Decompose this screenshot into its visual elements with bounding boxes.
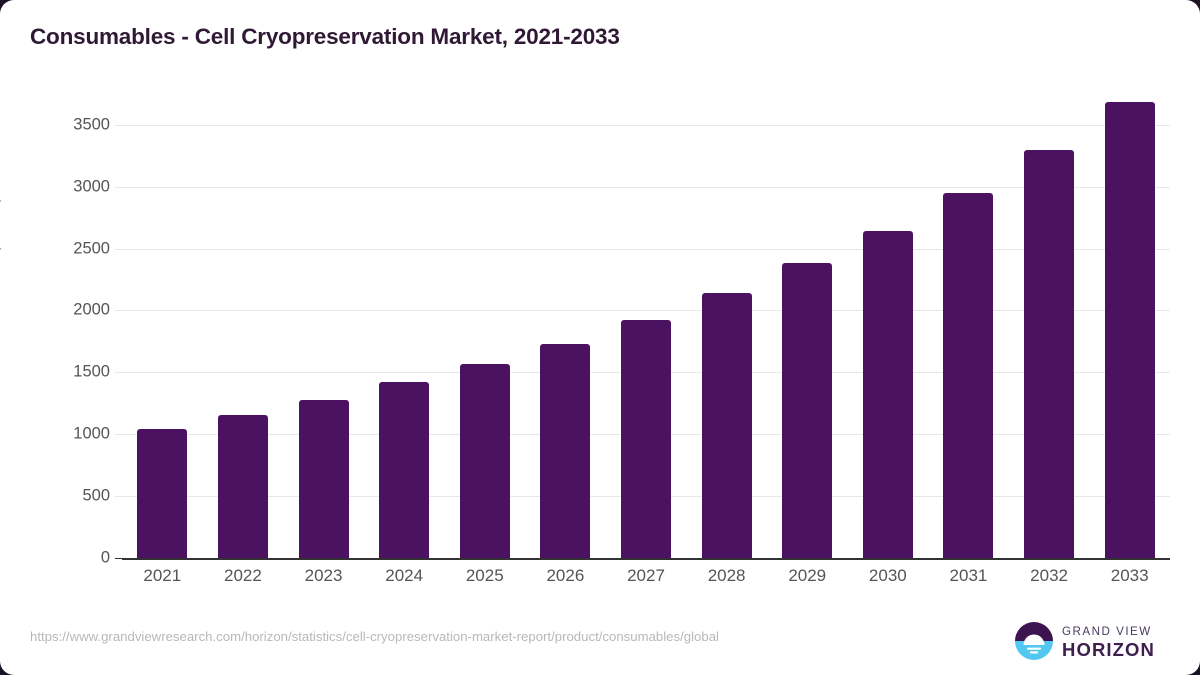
x-tick-label: 2024 bbox=[364, 566, 445, 586]
x-tick-label: 2032 bbox=[1009, 566, 1090, 586]
horizon-logo-icon bbox=[1014, 621, 1054, 661]
bar[interactable] bbox=[943, 193, 993, 558]
bar[interactable] bbox=[621, 320, 671, 558]
y-tick-label: 2000 bbox=[50, 301, 110, 320]
x-tick-label: 2021 bbox=[122, 566, 203, 586]
chart-card: Consumables - Cell Cryopreservation Mark… bbox=[0, 0, 1200, 675]
x-tick-label: 2026 bbox=[525, 566, 606, 586]
chart-title: Consumables - Cell Cryopreservation Mark… bbox=[30, 24, 620, 50]
y-tick-mark bbox=[115, 249, 122, 250]
y-tick-mark bbox=[115, 434, 122, 435]
plot-area bbox=[122, 100, 1170, 558]
y-tick-mark bbox=[115, 310, 122, 311]
bar[interactable] bbox=[863, 231, 913, 558]
bar[interactable] bbox=[137, 429, 187, 558]
x-tick-label: 2029 bbox=[767, 566, 848, 586]
x-tick-label: 2023 bbox=[283, 566, 364, 586]
bar[interactable] bbox=[702, 293, 752, 558]
x-tick-label: 2025 bbox=[444, 566, 525, 586]
brand-logo: GRAND VIEW HORIZON bbox=[1014, 619, 1174, 663]
x-tick-label: 2031 bbox=[928, 566, 1009, 586]
y-tick-mark bbox=[115, 496, 122, 497]
bar[interactable] bbox=[782, 263, 832, 558]
y-tick-label: 2500 bbox=[50, 239, 110, 258]
y-tick-label: 3000 bbox=[50, 177, 110, 196]
bar[interactable] bbox=[1024, 150, 1074, 558]
y-tick-mark bbox=[115, 558, 122, 559]
y-tick-label: 0 bbox=[50, 549, 110, 568]
bar[interactable] bbox=[460, 364, 510, 558]
bar[interactable] bbox=[299, 400, 349, 558]
y-tick-label: 1000 bbox=[50, 425, 110, 444]
source-url[interactable]: https://www.grandviewresearch.com/horizo… bbox=[30, 629, 719, 644]
bar[interactable] bbox=[379, 382, 429, 558]
x-tick-label: 2027 bbox=[606, 566, 687, 586]
y-tick-label: 3500 bbox=[50, 115, 110, 134]
x-tick-label: 2022 bbox=[203, 566, 284, 586]
brand-line-1: GRAND VIEW bbox=[1062, 624, 1174, 639]
x-tick-label: 2028 bbox=[686, 566, 767, 586]
brand-logo-text: GRAND VIEW HORIZON bbox=[1062, 624, 1174, 660]
y-tick-label: 500 bbox=[50, 487, 110, 506]
y-tick-mark bbox=[115, 372, 122, 373]
y-tick-mark bbox=[115, 125, 122, 126]
x-tick-label: 2033 bbox=[1089, 566, 1170, 586]
y-axis-title: Market Size (US$M) bbox=[0, 196, 2, 345]
brand-line-2: HORIZON bbox=[1062, 639, 1174, 660]
bar[interactable] bbox=[540, 344, 590, 558]
x-tick-label: 2030 bbox=[848, 566, 929, 586]
x-axis-line bbox=[122, 558, 1170, 560]
bar[interactable] bbox=[1105, 102, 1155, 558]
y-tick-mark bbox=[115, 187, 122, 188]
y-tick-label: 1500 bbox=[50, 363, 110, 382]
bar[interactable] bbox=[218, 415, 268, 558]
